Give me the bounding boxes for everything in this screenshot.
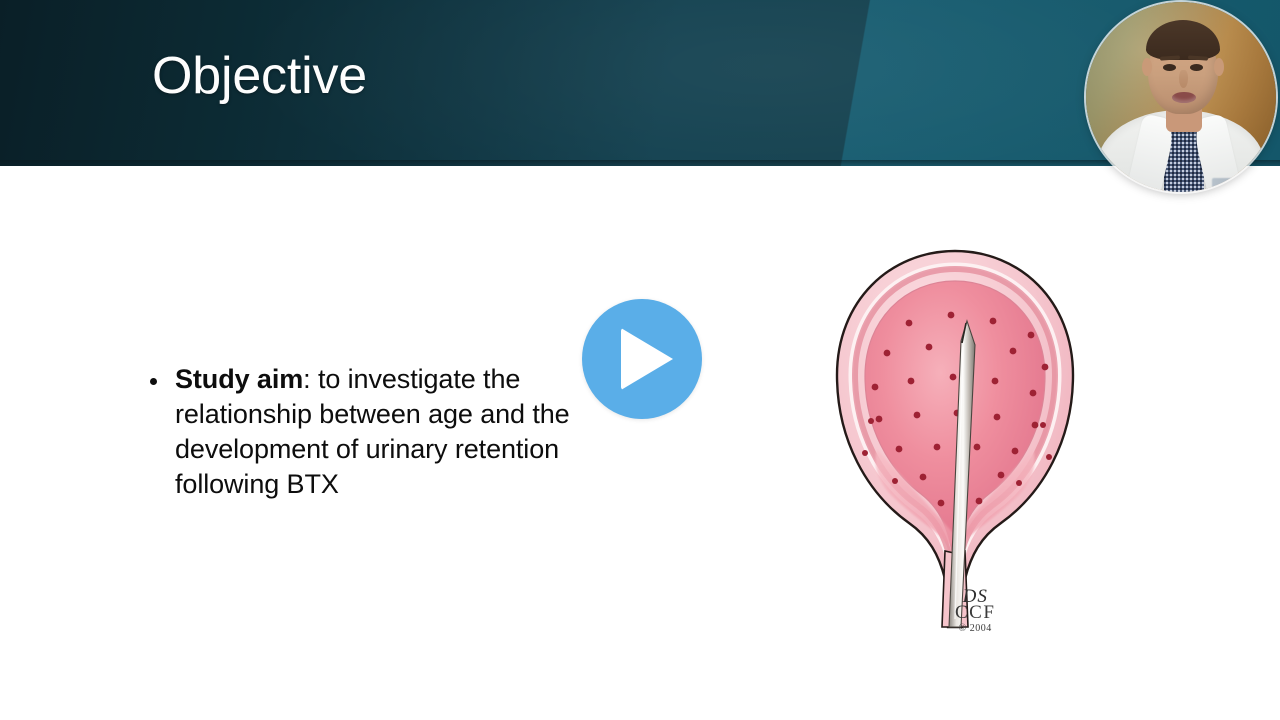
presenter-eye-right bbox=[1190, 64, 1203, 71]
list-item: Study aim: to investigate the relationsh… bbox=[150, 362, 580, 502]
play-video-button[interactable] bbox=[575, 292, 709, 426]
lab-coat-embroidery bbox=[1212, 178, 1254, 188]
slide-root: Objective Study aim: to investigate the … bbox=[0, 0, 1280, 720]
page-title: Objective bbox=[152, 49, 367, 104]
bullet-dot-icon bbox=[150, 378, 157, 385]
presenter-eye-left bbox=[1163, 64, 1176, 71]
bullet-text: Study aim: to investigate the relationsh… bbox=[175, 362, 580, 502]
presenter-ear-right bbox=[1214, 58, 1224, 76]
bullet-lead-label: Study aim bbox=[175, 364, 303, 394]
bladder-injection-illustration: DS CCF © 2004 bbox=[805, 235, 1105, 635]
presenter-mouth bbox=[1172, 92, 1196, 103]
content-bullet-list: Study aim: to investigate the relationsh… bbox=[150, 362, 580, 502]
play-button-circle bbox=[582, 299, 702, 419]
presenter-nose bbox=[1179, 70, 1188, 88]
presenter-video-avatar[interactable] bbox=[1086, 2, 1276, 192]
presenter-ear-left bbox=[1142, 58, 1152, 76]
play-triangle-icon bbox=[621, 328, 673, 390]
